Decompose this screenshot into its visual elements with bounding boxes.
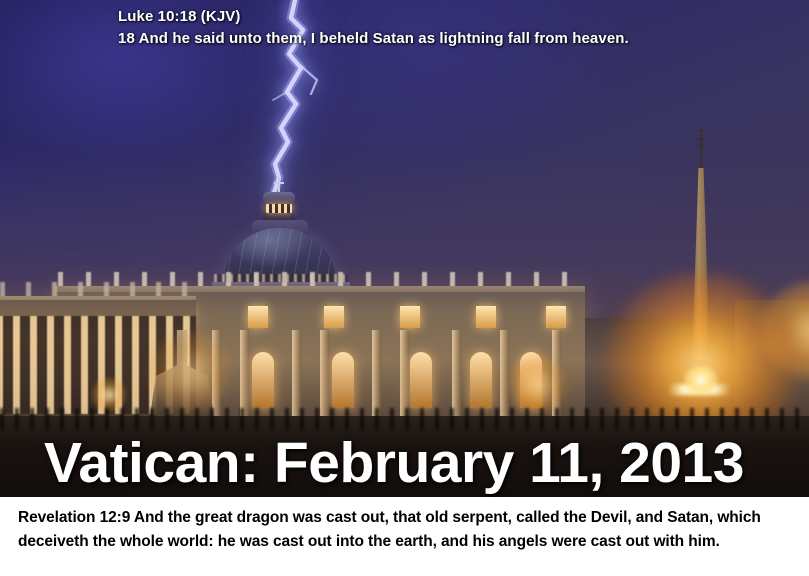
caption-bar: Revelation 12:9 And the great dragon was… xyxy=(0,497,809,576)
facade-column xyxy=(552,330,561,416)
vatican-night-photo: Luke 10:18 (KJV) 18 And he said unto the… xyxy=(0,0,809,497)
facade-arch xyxy=(332,352,354,408)
facade-window xyxy=(248,306,268,328)
facade-arch xyxy=(470,352,492,408)
facade-arch xyxy=(520,352,542,408)
right-building xyxy=(735,300,809,420)
scripture-overlay: Luke 10:18 (KJV) 18 And he said unto the… xyxy=(118,6,629,50)
facade-window xyxy=(400,306,420,328)
facade-column xyxy=(240,330,249,416)
facade-column xyxy=(320,330,329,416)
right-building-far xyxy=(585,318,735,418)
facade-column xyxy=(292,330,301,416)
facade-arch xyxy=(252,352,274,408)
obelisk-cross-icon xyxy=(695,128,707,170)
facade-column xyxy=(500,330,509,416)
facade-window xyxy=(546,306,566,328)
facade-window xyxy=(324,306,344,328)
facade-column xyxy=(372,330,381,416)
facade-arch xyxy=(410,352,432,408)
facade-window xyxy=(476,306,496,328)
slide-root: Luke 10:18 (KJV) 18 And he said unto the… xyxy=(0,0,809,576)
facade-column xyxy=(400,330,409,416)
page-title: Vatican: February 11, 2013 xyxy=(44,432,744,494)
lamp-bar-light xyxy=(668,384,730,395)
facade-column xyxy=(452,330,461,416)
verse-text: 18 And he said unto them, I beheld Satan… xyxy=(118,28,629,50)
lantern-lights xyxy=(266,204,292,213)
verse-reference: Luke 10:18 (KJV) xyxy=(118,6,629,28)
facade-column xyxy=(212,330,221,416)
caption-text: Revelation 12:9 And the great dragon was… xyxy=(0,497,809,554)
